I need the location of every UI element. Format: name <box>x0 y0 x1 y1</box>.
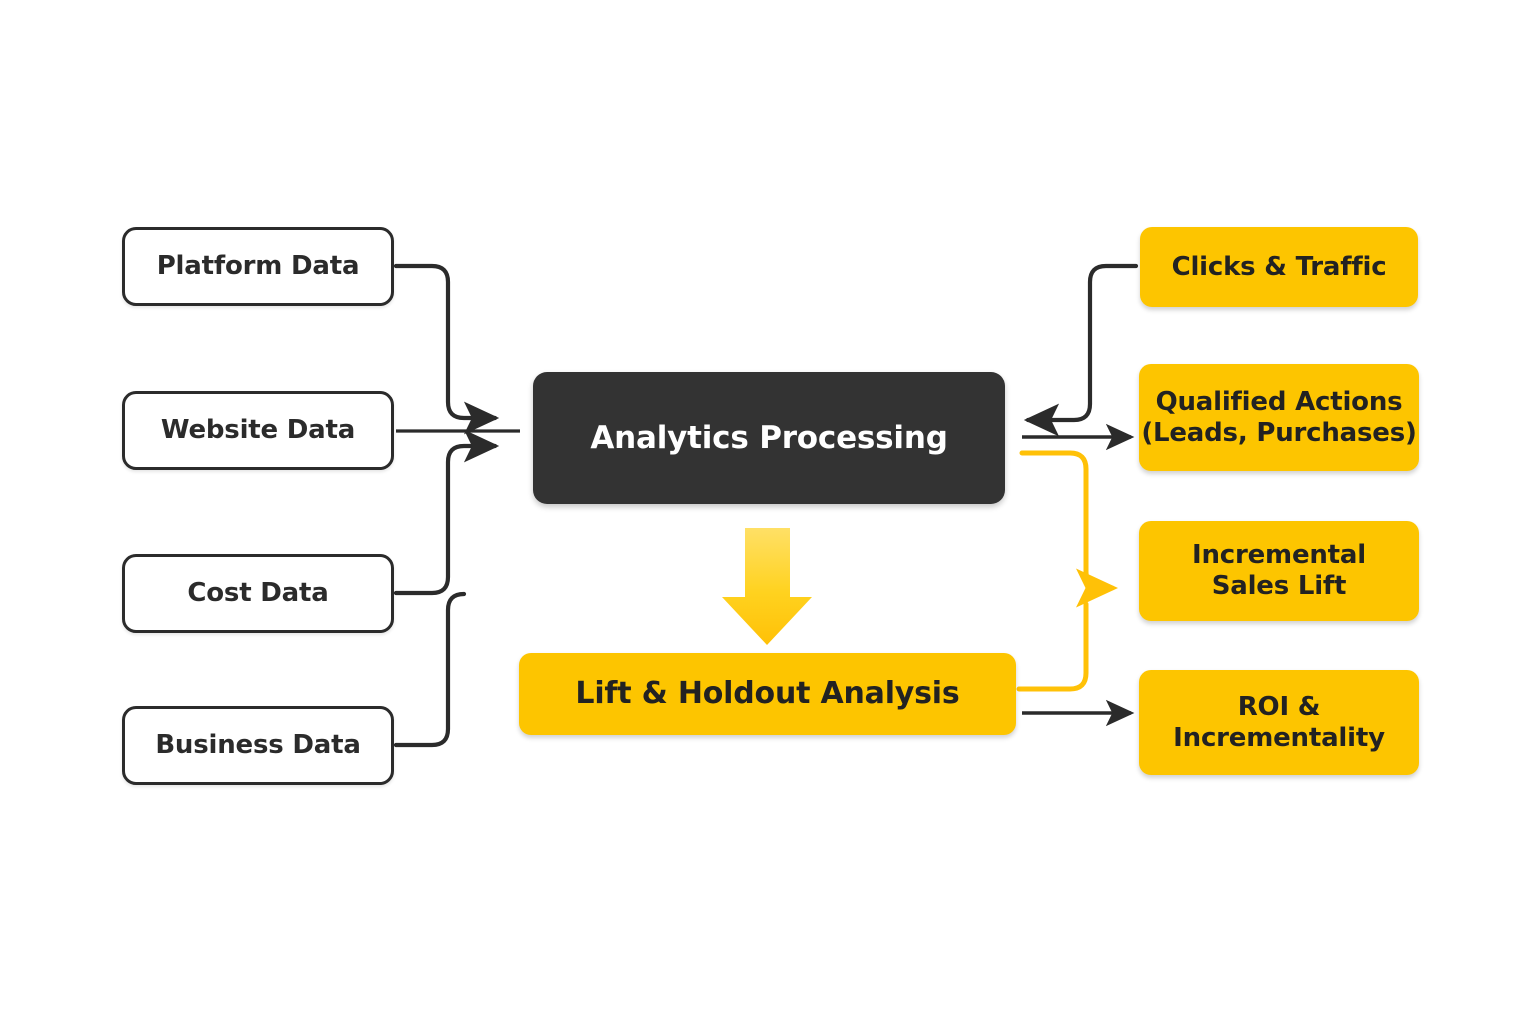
wire-business-to-core <box>396 594 464 745</box>
input-node-label: Business Data <box>155 730 360 761</box>
input-node-platform-data[interactable]: Platform Data <box>122 227 394 306</box>
wire-core-to-analysis <box>722 528 812 645</box>
core-node-analytics-processing[interactable]: Analytics Processing <box>533 372 1005 504</box>
output-node-label: Incremental Sales Lift <box>1192 540 1366 601</box>
output-node-clicks-traffic[interactable]: Clicks & Traffic <box>1140 227 1418 307</box>
wire-cost-to-core <box>396 446 495 593</box>
diagram-canvas: Platform Data Website Data Cost Data Bus… <box>0 0 1536 1024</box>
output-node-roi-incrementality[interactable]: ROI & Incrementality <box>1139 670 1419 775</box>
connector-layer <box>0 0 1536 1024</box>
wire-analysis-to-incremental <box>1019 604 1086 689</box>
output-node-incremental-sales-lift[interactable]: Incremental Sales Lift <box>1139 521 1419 621</box>
wire-clicks-to-core <box>1028 266 1136 420</box>
output-node-label: ROI & Incrementality <box>1173 692 1385 753</box>
input-node-label: Platform Data <box>157 251 360 282</box>
output-node-qualified-actions[interactable]: Qualified Actions (Leads, Purchases) <box>1139 364 1419 471</box>
input-node-website-data[interactable]: Website Data <box>122 391 394 470</box>
input-node-label: Website Data <box>161 415 355 446</box>
input-node-cost-data[interactable]: Cost Data <box>122 554 394 633</box>
input-node-label: Cost Data <box>187 578 328 609</box>
input-node-business-data[interactable]: Business Data <box>122 706 394 785</box>
output-node-label: Clicks & Traffic <box>1172 252 1387 283</box>
wire-platform-to-core <box>396 266 495 418</box>
core-node-label: Analytics Processing <box>590 420 947 457</box>
analysis-node-label: Lift & Holdout Analysis <box>575 676 959 711</box>
analysis-node-lift-holdout[interactable]: Lift & Holdout Analysis <box>519 653 1016 735</box>
wire-core-to-incremental <box>1022 453 1112 588</box>
output-node-label: Qualified Actions (Leads, Purchases) <box>1141 387 1416 448</box>
